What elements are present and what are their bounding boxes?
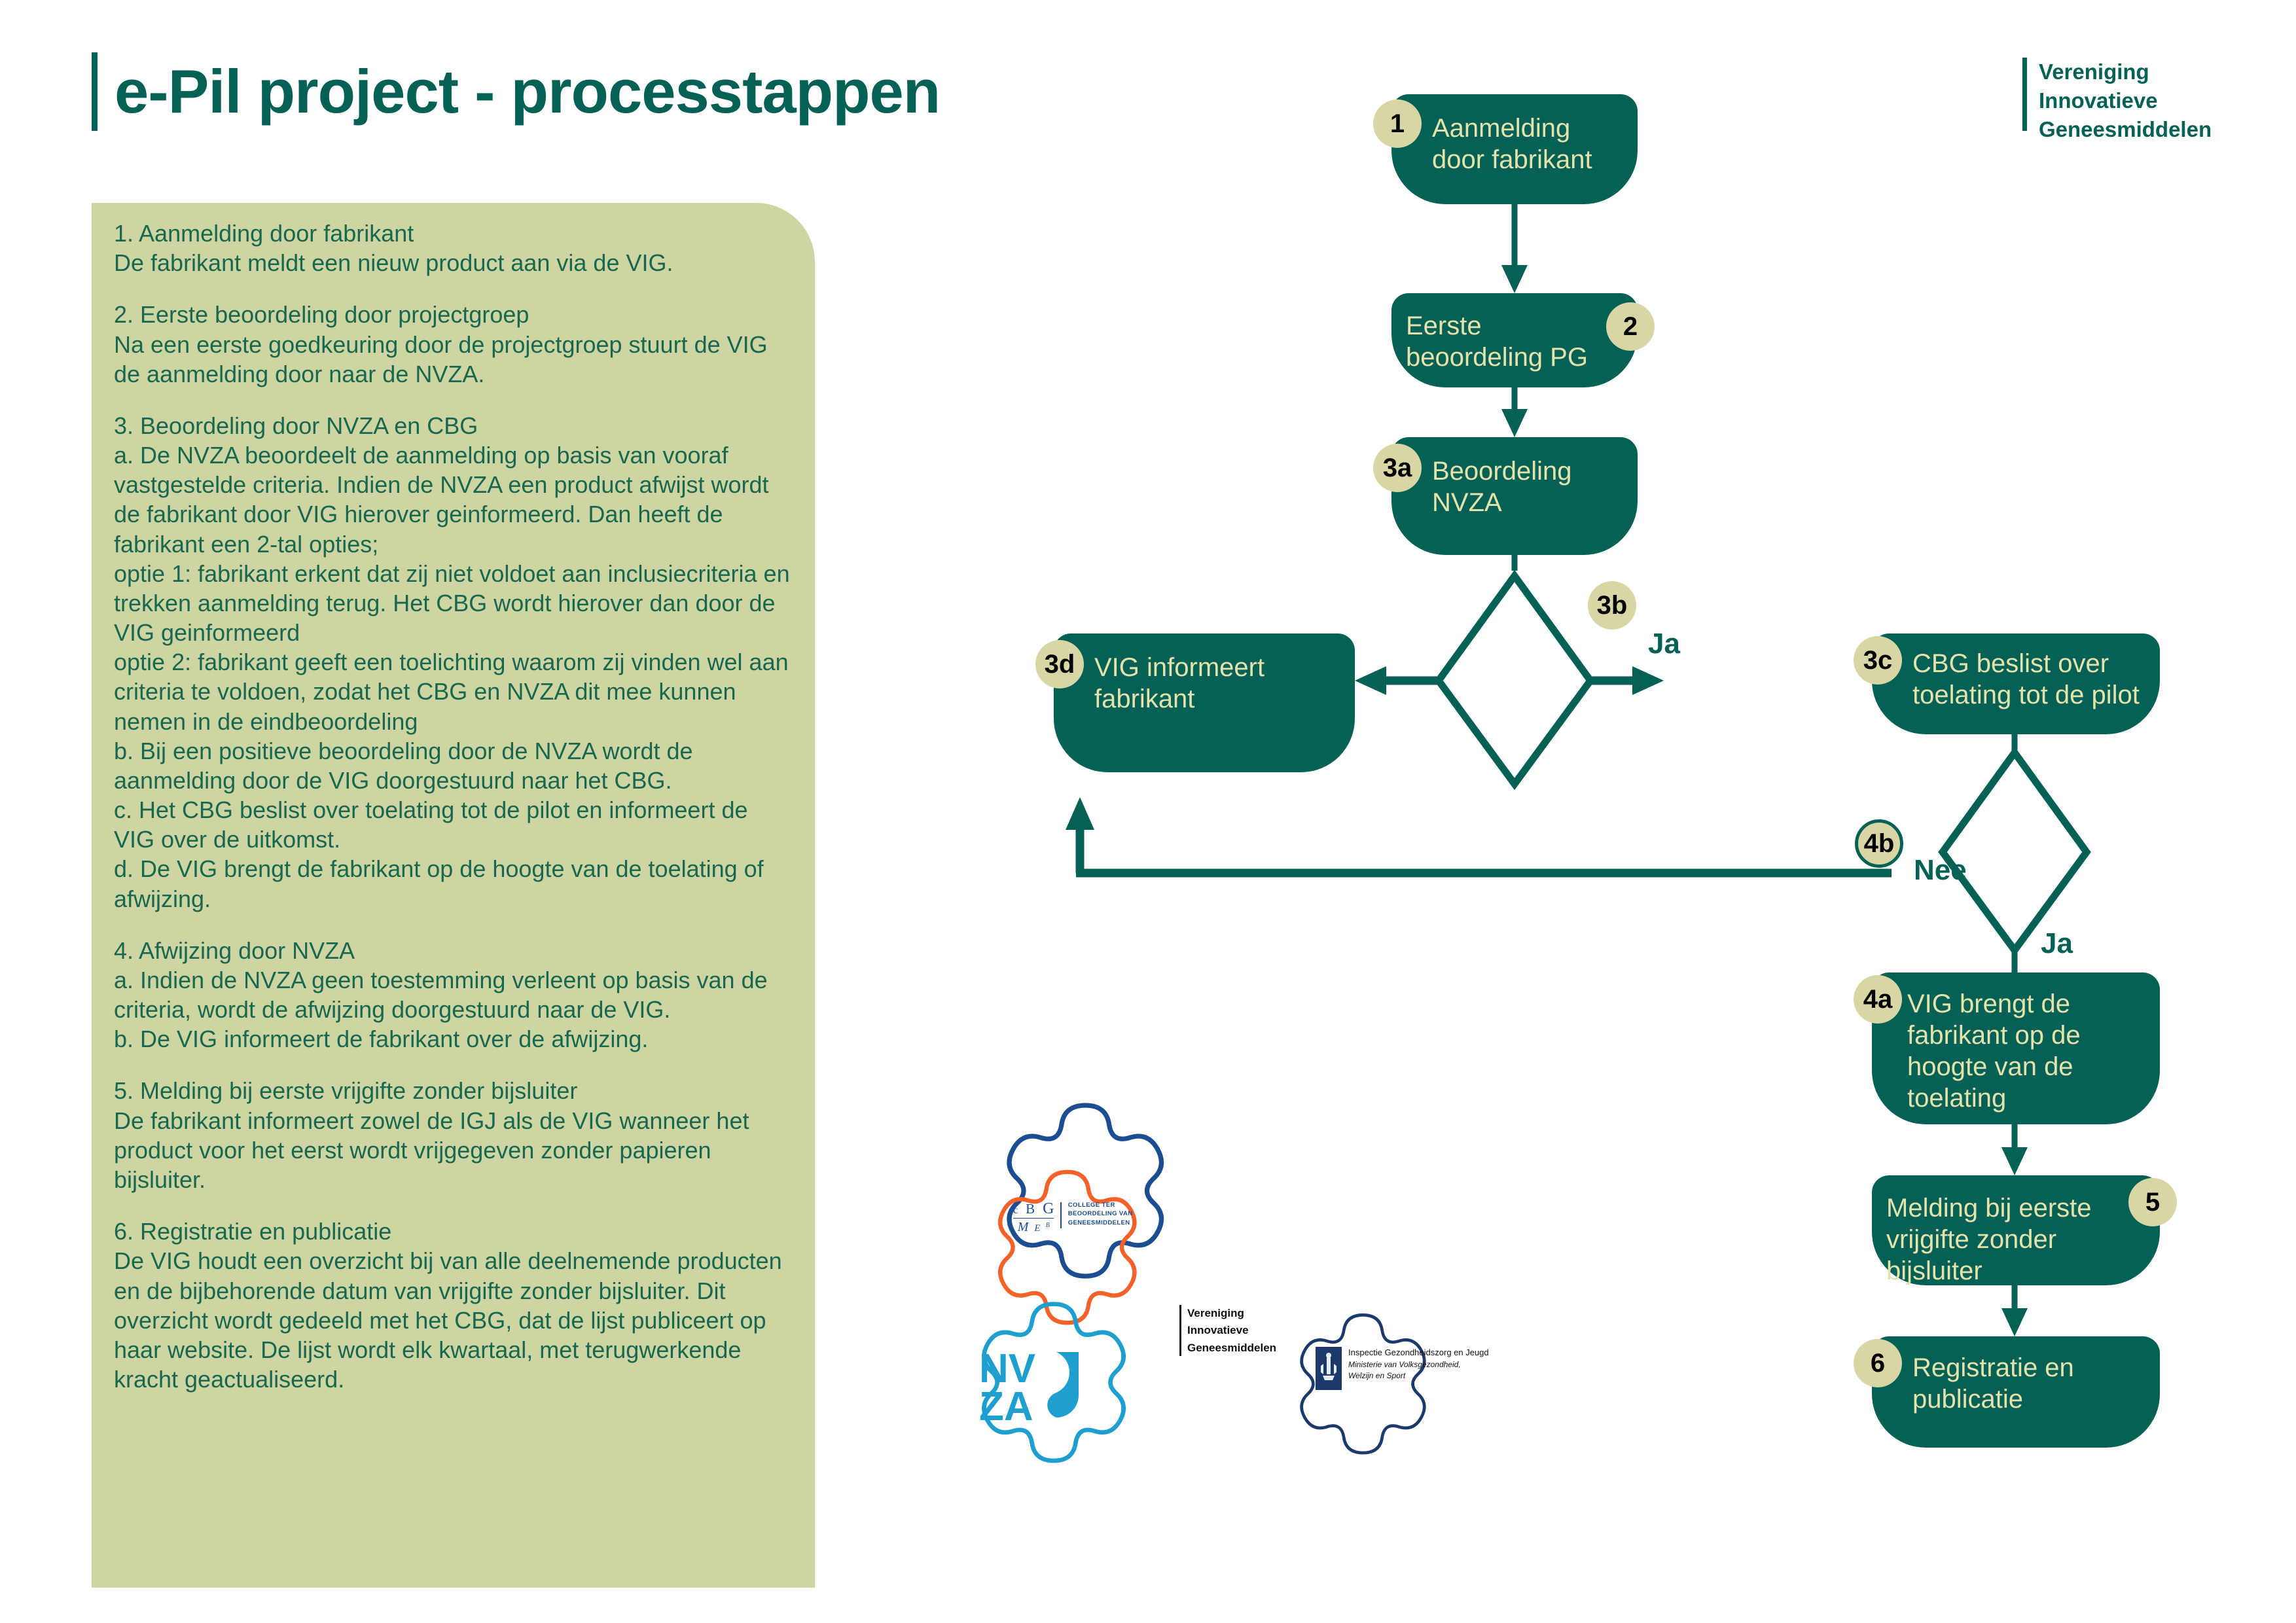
logo-vig: Vereniging Innovatieve Geneesmiddelen [1179, 1305, 1276, 1357]
igj-crest-icon [1316, 1347, 1342, 1390]
page-title: e-Pil project - processtappen [92, 52, 940, 131]
decision-4b-badge: 4b [1855, 819, 1903, 868]
cbg-subtitle: COLLEGE TER BEOORDELING VAN GENEESMIDDEL… [1068, 1201, 1133, 1227]
flow-node-3c-badge: 3c [1854, 636, 1902, 685]
logo-igj: Inspectie Gezondheidszorg en Jeugd Minis… [1316, 1347, 1489, 1390]
gear-cbg [1009, 1105, 1161, 1276]
edge-label-3b-no: Nee [1259, 630, 1312, 658]
vig-logo-line-3: Geneesmiddelen [1187, 1340, 1276, 1357]
title-accent-bar [92, 52, 98, 131]
igj-logo-lines: Inspectie Gezondheidszorg en Jeugd Minis… [1348, 1347, 1489, 1382]
flow-node-5-label: Melding bij eerste vrijgifte zonder bijs… [1886, 1192, 2115, 1287]
page-title-text: e-Pil project - processtappen [115, 61, 940, 122]
flow-node-5[interactable]: 5 Melding bij eerste vrijgifte zonder bi… [1872, 1175, 2160, 1285]
flow-node-1-label: Aanmelding door fabrikant [1432, 113, 1628, 175]
flow-node-2-badge: 2 [1606, 302, 1655, 351]
flow-node-4a[interactable]: 4a VIG brengt de fabrikant op de hoogte … [1872, 972, 2160, 1124]
nvza-line-2: ZA [979, 1384, 1033, 1425]
flow-node-3c-label: CBG beslist over toelating tot de pilot [1912, 648, 2142, 711]
flow-node-3d-label: VIG informeert fabrikant [1094, 652, 1343, 715]
flow-node-4a-badge: 4a [1854, 975, 1902, 1024]
flow-node-4a-label: VIG brengt de fabrikant op de hoogte van… [1907, 988, 2143, 1114]
connector-3b-yes [1590, 666, 1664, 695]
connector-2-to-3a [1501, 387, 1528, 437]
connector-3b-no [1355, 666, 1439, 695]
partner-logos-cluster: c B G M E B COLLEGE TER BEOORDELING VAN … [916, 1086, 1492, 1472]
edge-label-4b-no: Nee [1914, 856, 1967, 885]
vig-logo-line-1: Vereniging [1187, 1305, 1276, 1322]
cbg-mark-e: E [1034, 1223, 1040, 1234]
process-step-2: 2. Eerste beoordeling door projectgroep … [114, 300, 793, 389]
process-step-3: 3. Beoordeling door NVZA en CBG a. De NV… [114, 411, 793, 914]
logo-cbg: c B G M E B COLLEGE TER BEOORDELING VAN … [1013, 1201, 1132, 1234]
process-step-1: 1. Aanmelding door fabrikant De fabrikan… [114, 219, 793, 277]
flow-node-3a-label: Beoordeling NVZA [1432, 455, 1628, 518]
cbg-sub-2: BEOORDELING VAN [1068, 1209, 1133, 1218]
logo-nvza: NV ZA [979, 1348, 1105, 1429]
process-steps-panel: 1. Aanmelding door fabrikant De fabrikan… [92, 203, 815, 1588]
igj-line-1: Inspectie Gezondheidszorg en Jeugd [1348, 1347, 1489, 1359]
connector-5-to-6 [2001, 1285, 2028, 1336]
flow-node-6-label: Registratie en publicatie [1912, 1352, 2148, 1415]
connector-1-to-2 [1501, 204, 1528, 293]
vig-logo-bar [1179, 1305, 1181, 1356]
cbg-mark-m: M [1018, 1220, 1029, 1234]
flow-node-3d-badge: 3d [1035, 640, 1084, 688]
connector-4a-to-5 [2001, 1124, 2028, 1175]
vig-logo-line-2: Innovatieve [1187, 1322, 1276, 1339]
cbg-mark-c: c [1013, 1205, 1018, 1216]
decision-3b-badge: 3b [1588, 581, 1636, 630]
igj-line-3: Welzijn en Sport [1348, 1370, 1489, 1382]
decision-diamond-4b [1943, 753, 2087, 950]
cbg-divider [1060, 1202, 1061, 1228]
flow-node-5-badge: 5 [2128, 1178, 2177, 1226]
nvza-droplet-icon [1047, 1352, 1079, 1418]
igj-line-2: Ministerie van Volksgezondheid, [1348, 1359, 1489, 1370]
cbg-monogram: c B G M E B [1013, 1201, 1054, 1234]
cbg-sub-3: GENEESMIDDELEN [1068, 1219, 1133, 1227]
flow-node-3a-badge: 3a [1373, 444, 1422, 492]
edge-label-4b-yes: Ja [2041, 929, 2073, 958]
cbg-mark-g: G [1043, 1200, 1054, 1217]
flow-node-1-badge: 1 [1373, 99, 1422, 148]
flow-node-6-badge: 6 [1854, 1339, 1902, 1387]
nvza-mark: NV ZA [979, 1348, 1105, 1425]
process-step-4: 4. Afwijzing door NVZA a. Indien de NVZA… [114, 936, 793, 1054]
cbg-sub-1: COLLEGE TER [1068, 1201, 1133, 1209]
flow-node-3a[interactable]: 3a Beoordeling NVZA [1391, 437, 1638, 555]
cbg-mark-b2: B [1046, 1222, 1050, 1229]
connector-4b-no-loop [1066, 797, 1943, 873]
vig-logo-lines: Vereniging Innovatieve Geneesmiddelen [1187, 1305, 1276, 1357]
process-step-5: 5. Melding bij eerste vrijgifte zonder b… [114, 1076, 793, 1194]
flow-node-2-label: Eerste beoordeling PG [1406, 310, 1602, 373]
flow-node-3c[interactable]: 3c CBG beslist over toelating tot de pil… [1872, 633, 2160, 734]
edge-label-3b-yes: Ja [1648, 630, 1680, 658]
poster-canvas: e-Pil project - processtappen Vereniging… [0, 0, 2296, 1623]
flow-node-6[interactable]: 6 Registratie en publicatie [1872, 1336, 2160, 1448]
process-step-6: 6. Registratie en publicatie De VIG houd… [114, 1217, 793, 1394]
decision-diamond-3b [1439, 576, 1590, 784]
flow-node-2[interactable]: 2 Eerste beoordeling PG [1391, 293, 1638, 387]
cbg-mark-b: B [1026, 1201, 1035, 1217]
flow-node-1[interactable]: 1 Aanmelding door fabrikant [1391, 94, 1638, 204]
